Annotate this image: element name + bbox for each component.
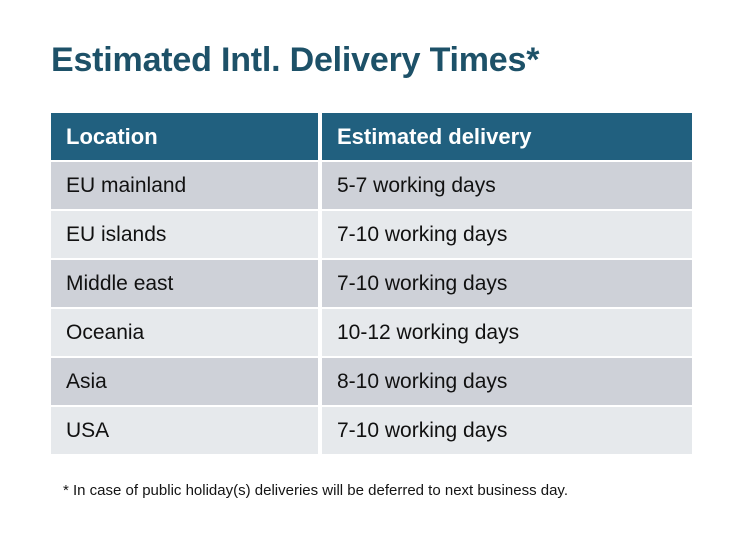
cell-delivery: 7-10 working days xyxy=(322,407,692,454)
column-header-estimated-delivery: Estimated delivery xyxy=(322,113,692,160)
cell-location: Middle east xyxy=(51,260,318,307)
table-row: Middle east 7-10 working days xyxy=(51,260,692,307)
cell-delivery: 7-10 working days xyxy=(322,260,692,307)
table-row: EU islands 7-10 working days xyxy=(51,211,692,258)
cell-delivery: 5-7 working days xyxy=(322,162,692,209)
cell-location: Oceania xyxy=(51,309,318,356)
delivery-times-page: Estimated Intl. Delivery Times* Location… xyxy=(0,0,745,536)
page-title: Estimated Intl. Delivery Times* xyxy=(51,39,539,81)
cell-location: EU islands xyxy=(51,211,318,258)
cell-location: Asia xyxy=(51,358,318,405)
cell-location: EU mainland xyxy=(51,162,318,209)
table-row: USA 7-10 working days xyxy=(51,407,692,454)
cell-location: USA xyxy=(51,407,318,454)
table-row: Asia 8-10 working days xyxy=(51,358,692,405)
cell-delivery: 8-10 working days xyxy=(322,358,692,405)
estimated-delivery-table: Location Estimated delivery EU mainland … xyxy=(51,113,692,454)
cell-delivery: 7-10 working days xyxy=(322,211,692,258)
table-header-row: Location Estimated delivery xyxy=(51,113,692,160)
table-row: Oceania 10-12 working days xyxy=(51,309,692,356)
table-row: EU mainland 5-7 working days xyxy=(51,162,692,209)
cell-delivery: 10-12 working days xyxy=(322,309,692,356)
column-header-location: Location xyxy=(51,113,318,160)
footnote-text: * In case of public holiday(s) deliverie… xyxy=(63,481,568,501)
